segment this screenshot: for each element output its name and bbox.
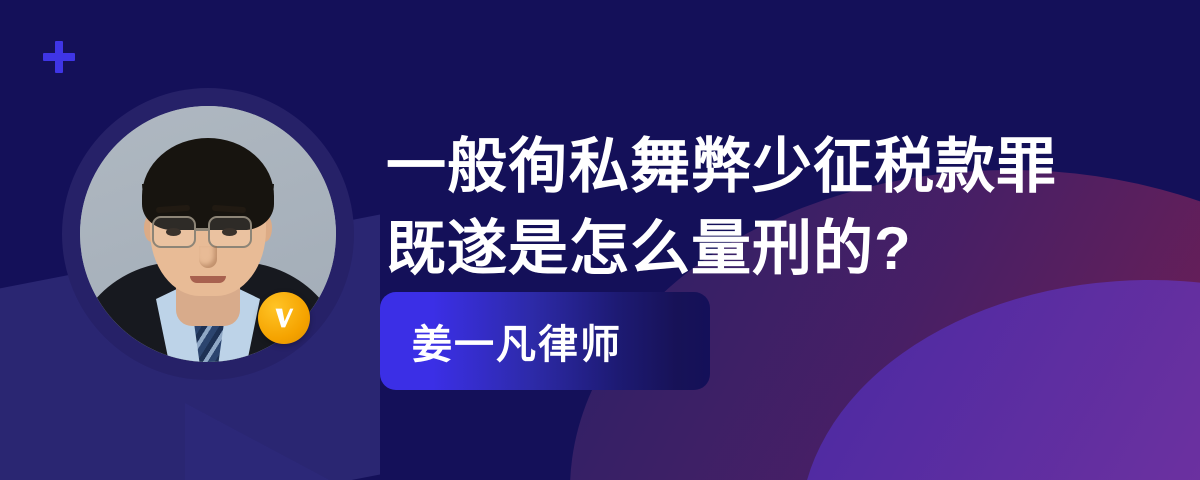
decorative-triangle [185,403,485,480]
verified-badge-icon [258,292,310,344]
page-title-line-2: 既遂是怎么量刑的? [386,208,1046,290]
lawyer-name-label: 姜一凡律师 [412,312,622,370]
page-title: 一般徇私舞弊少征税款罪 既遂是怎么量刑的? [386,126,1046,290]
lawyer-name-badge[interactable]: 姜一凡律师 [380,292,710,390]
plus-icon [42,40,76,74]
decorative-arc-purple [800,280,1200,480]
page-title-line-1: 一般徇私舞弊少征税款罪 [386,126,1046,208]
avatar[interactable] [62,88,354,380]
lawyer-question-card: 一般徇私舞弊少征税款罪 既遂是怎么量刑的? 姜一凡律师 [0,0,1200,480]
